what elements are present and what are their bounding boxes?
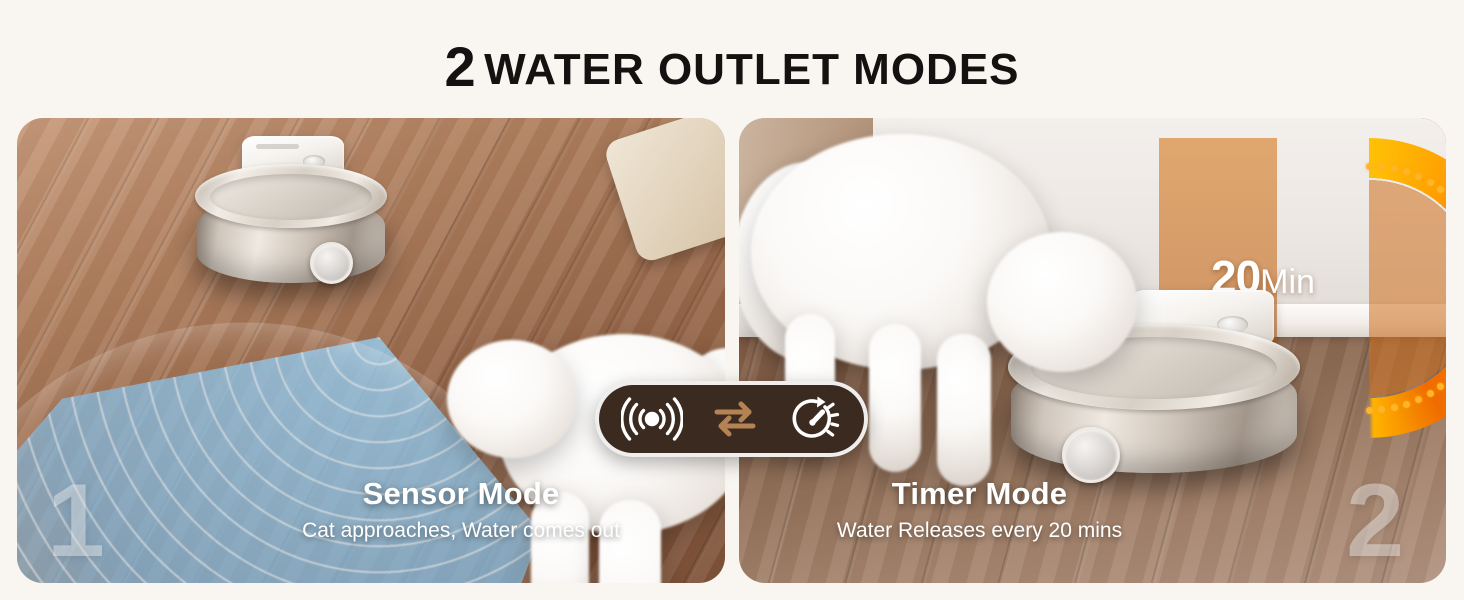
panel-timer-mode[interactable]: 20Min 2 Timer Mode Water Releases every: [739, 118, 1446, 583]
mode-subtitle-sensor: Cat approaches, Water comes out: [197, 519, 725, 543]
title-text: WATER OUTLET MODES: [484, 45, 1019, 94]
promo-banner: 2WATER OUTLET MODES 1: [0, 0, 1464, 600]
water-fountain-left: [197, 158, 385, 298]
water-level-window-left: [310, 242, 353, 284]
brand-mark: [256, 144, 299, 150]
caption-timer-mode: Timer Mode Water Releases every 20 mins: [739, 476, 1446, 543]
bidirectional-arrows-icon: [712, 398, 758, 440]
mode-switch-badge[interactable]: [595, 381, 868, 457]
caption-sensor-mode: Sensor Mode Cat approaches, Water comes …: [17, 476, 725, 543]
timer-gauge-icon: [786, 394, 842, 444]
mode-subtitle-timer: Water Releases every 20 mins: [739, 519, 1220, 543]
sensor-wave-icon: [621, 397, 683, 441]
title-number: 2: [444, 35, 476, 98]
page-title: 2WATER OUTLET MODES: [0, 34, 1464, 99]
panel-sensor-mode[interactable]: 1 Sensor Mode Cat approaches, Water come…: [17, 118, 725, 583]
door-frame: [739, 118, 873, 323]
water-level-window-right: [1062, 427, 1119, 483]
water-surface-left: [210, 174, 372, 220]
mode-title-timer: Timer Mode: [739, 476, 1220, 512]
water-surface-right: [1031, 337, 1277, 399]
mode-title-sensor: Sensor Mode: [197, 476, 725, 512]
